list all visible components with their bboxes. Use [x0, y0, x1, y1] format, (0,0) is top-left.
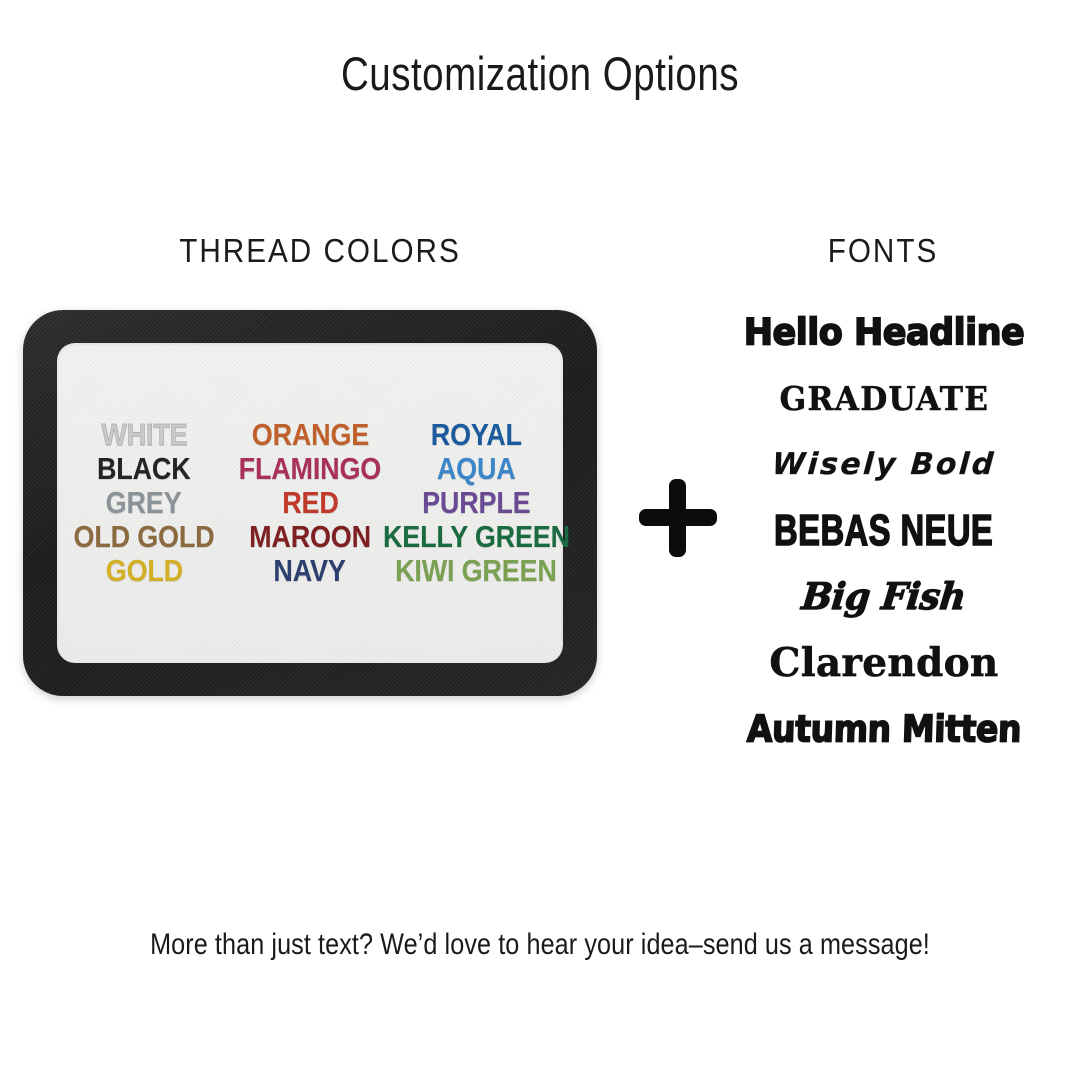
font-sample-label: Clarendon: [769, 630, 998, 696]
thread-color-swatch: GOLD: [105, 555, 182, 587]
fonts-heading: FONTS: [735, 232, 1032, 270]
font-sample: BEBAS NEUE: [718, 498, 1050, 564]
font-sample-label: GRADUATE: [779, 366, 989, 432]
font-sample: Big Fish: [718, 564, 1050, 630]
thread-color-grid: WHITEBLACKGREYOLD GOLDGOLDORANGEFLAMINGO…: [57, 419, 563, 587]
font-sample: Hello Headline: [718, 300, 1050, 366]
thread-color-swatch: GREY: [106, 487, 182, 519]
footer-note: More than just text? We’d love to hear y…: [86, 928, 993, 962]
thread-color-swatch: RED: [282, 487, 338, 519]
thread-colors-patch: WHITEBLACKGREYOLD GOLDGOLDORANGEFLAMINGO…: [23, 310, 597, 696]
font-sample: GRADUATE: [718, 366, 1050, 432]
font-sample: Wisely Bold: [718, 432, 1050, 498]
font-sample-label: Hello Headline: [744, 299, 1025, 368]
thread-color-swatch: NAVY: [274, 555, 346, 587]
plus-icon-vertical-bar: [669, 479, 686, 557]
plus-icon: [637, 477, 719, 559]
thread-color-swatch: ORANGE: [251, 419, 368, 451]
thread-color-column: WHITEBLACKGREYOLD GOLDGOLD: [61, 419, 227, 587]
thread-color-column: ORANGEFLAMINGOREDMAROONNAVY: [227, 419, 393, 587]
font-sample: Autumn Mitten: [718, 696, 1050, 762]
font-sample-label: Autumn Mitten: [746, 692, 1022, 766]
thread-color-swatch: KIWI GREEN: [395, 555, 557, 587]
thread-color-swatch: KELLY GREEN: [383, 521, 570, 553]
thread-color-column: ROYALAQUAPURPLEKELLY GREENKIWI GREEN: [393, 419, 559, 587]
thread-color-swatch: PURPLE: [422, 487, 530, 519]
thread-color-swatch: BLACK: [97, 453, 191, 485]
font-sample-label: Big Fish: [799, 563, 970, 630]
font-sample-list: Hello HeadlineGRADUATEWisely BoldBEBAS N…: [718, 300, 1050, 762]
thread-color-swatch: FLAMINGO: [239, 453, 381, 485]
thread-colors-heading: THREAD COLORS: [59, 232, 581, 270]
page-title: Customization Options: [97, 46, 983, 101]
patch-fabric-area: WHITEBLACKGREYOLD GOLDGOLDORANGEFLAMINGO…: [57, 343, 563, 663]
font-sample-label: Wisely Bold: [770, 432, 998, 498]
thread-color-swatch: AQUA: [437, 453, 516, 485]
font-sample-label: BEBAS NEUE: [774, 495, 993, 566]
thread-color-swatch: OLD GOLD: [74, 521, 215, 553]
font-sample: Clarendon: [718, 630, 1050, 696]
thread-color-swatch: ROYAL: [430, 419, 521, 451]
thread-color-swatch: MAROON: [249, 521, 371, 553]
thread-color-swatch: WHITE: [101, 419, 187, 451]
